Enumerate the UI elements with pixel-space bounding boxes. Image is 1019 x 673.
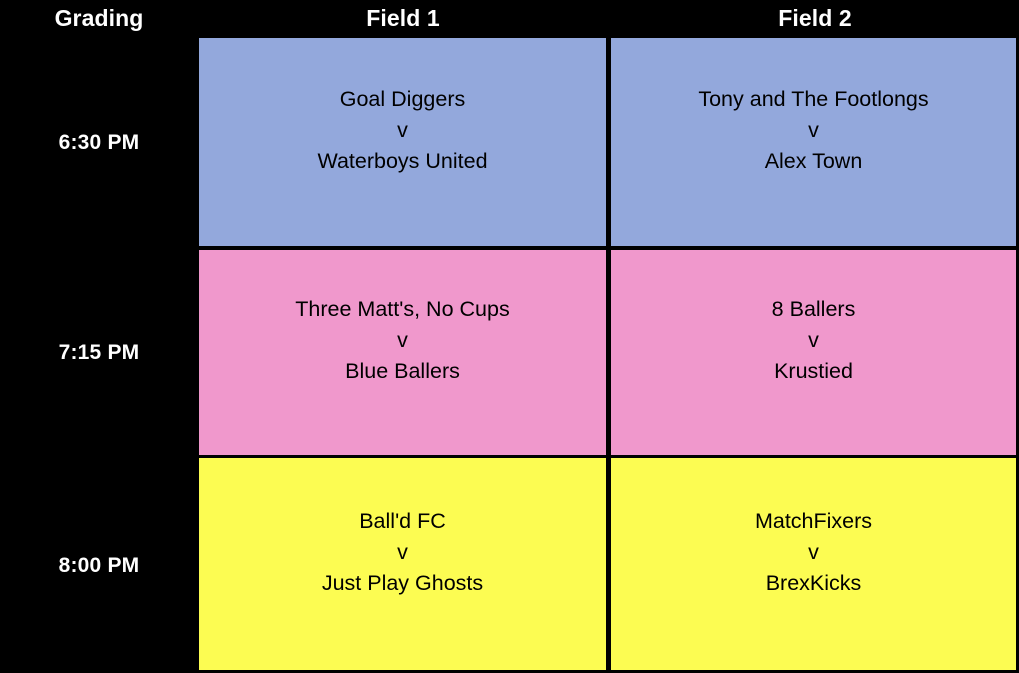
time-label-row-2: 7:15 PM — [0, 248, 198, 458]
column-header-field-2: Field 2 — [611, 0, 1019, 37]
home-team: Ball'd FC — [359, 506, 446, 537]
match-cell-row3-field2[interactable]: MatchFixers v BrexKicks — [611, 458, 1016, 670]
away-team: Waterboys United — [317, 146, 487, 177]
home-team: Goal Diggers — [340, 84, 465, 115]
away-team: Blue Ballers — [345, 356, 460, 387]
time-label-row-1: 6:30 PM — [0, 37, 198, 248]
versus-label: v — [808, 115, 819, 146]
match-cell-row1-field2[interactable]: Tony and The Footlongs v Alex Town — [611, 38, 1016, 247]
table-header-row: Grading Field 1 Field 2 — [0, 0, 1019, 37]
column-header-field-1: Field 1 — [198, 0, 608, 37]
match-cell-row3-field1[interactable]: Ball'd FC v Just Play Ghosts — [199, 458, 606, 670]
versus-label: v — [808, 325, 819, 356]
away-team: Alex Town — [765, 146, 863, 177]
header-corner-grading: Grading — [0, 0, 198, 37]
away-team: Krustied — [774, 356, 853, 387]
match-cell-row2-field1[interactable]: Three Matt's, No Cups v Blue Ballers — [199, 250, 606, 455]
home-team: Tony and The Footlongs — [698, 84, 928, 115]
home-team: 8 Ballers — [772, 294, 856, 325]
grid-line-field-divider — [606, 37, 611, 673]
home-team: Three Matt's, No Cups — [295, 294, 509, 325]
versus-label: v — [397, 537, 408, 568]
versus-label: v — [808, 537, 819, 568]
versus-label: v — [397, 325, 408, 356]
away-team: BrexKicks — [766, 568, 862, 599]
away-team: Just Play Ghosts — [322, 568, 483, 599]
time-label-row-3: 8:00 PM — [0, 458, 198, 673]
match-cell-row2-field2[interactable]: 8 Ballers v Krustied — [611, 250, 1016, 455]
match-cell-row1-field1[interactable]: Goal Diggers v Waterboys United — [199, 38, 606, 247]
grading-schedule-table: Grading Field 1 Field 2 6:30 PM 7:15 PM … — [0, 0, 1019, 673]
home-team: MatchFixers — [755, 506, 872, 537]
grid-line-left-edge — [196, 37, 199, 673]
versus-label: v — [397, 115, 408, 146]
